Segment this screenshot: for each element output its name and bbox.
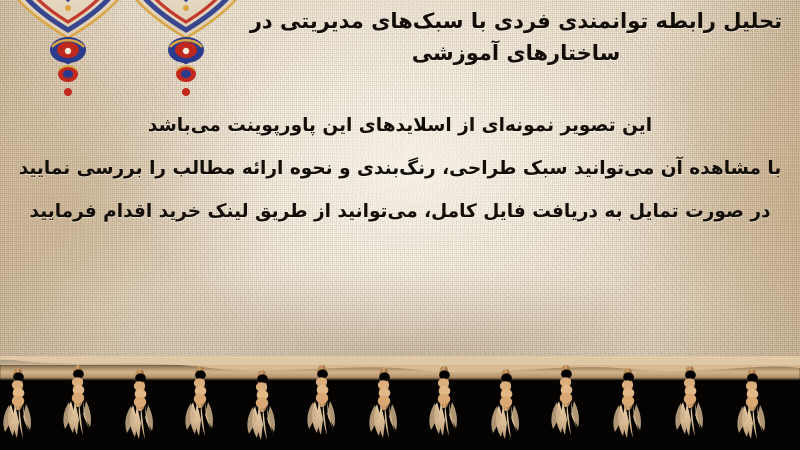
presentation-slide: تحلیل رابطه توانمندی فردی با سبک‌های مدی… [0,0,800,450]
slide-body-text: این تصویر نمونه‌ای از اسلایدهای این پاور… [14,104,786,233]
carpet-fringe-tassels [0,356,800,450]
body-line-3: در صورت تمایل به دریافت فایل کامل، می‌تو… [14,190,786,233]
slide-text-layer: تحلیل رابطه توانمندی فردی با سبک‌های مدی… [0,0,800,378]
body-line-2: با مشاهده آن می‌توانید سبک طراحی، رنگ‌بن… [14,147,786,190]
slide-title-line-2: ساختارهای آموزشی [412,41,621,65]
slide-title-line-1: تحلیل رابطه توانمندی فردی با سبک‌های مدی… [250,9,782,33]
body-line-1: این تصویر نمونه‌ای از اسلایدهای این پاور… [14,104,786,147]
slide-title: تحلیل رابطه توانمندی فردی با سبک‌های مدی… [240,6,792,70]
